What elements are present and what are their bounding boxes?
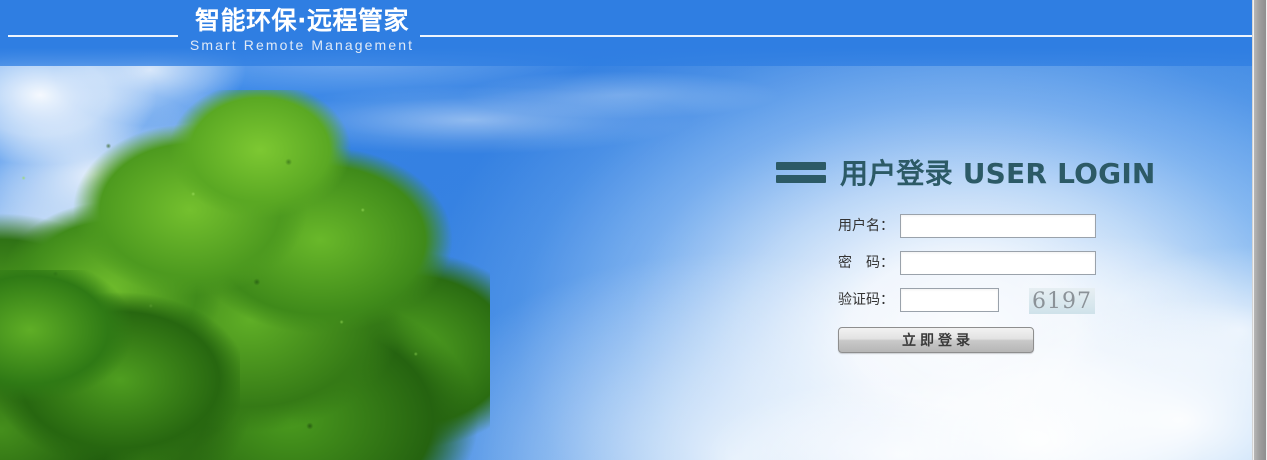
tree-canopy <box>0 90 490 460</box>
password-input[interactable] <box>900 251 1096 275</box>
header-rule-left-icon <box>8 35 178 37</box>
two-bar-icon <box>776 162 826 183</box>
login-form: 用户名： 密 码： 验证码： 6197 <box>838 214 1176 314</box>
captcha-input[interactable] <box>900 288 999 312</box>
tree-illustration-secondary <box>0 270 240 460</box>
username-label: 用户名： <box>838 214 900 235</box>
password-label: 密 码： <box>838 251 900 272</box>
scrollbar-thumb[interactable] <box>1254 0 1266 460</box>
tree-illustration <box>0 90 490 460</box>
brand-title-en: Smart Remote Management <box>186 36 418 54</box>
login-panel: 用户登录 USER LOGIN 用户名： 密 码： 验证码： 6197 立即登录 <box>776 152 1176 353</box>
login-page: 智能环保·远程管家 Smart Remote Management 用户登录 U… <box>0 0 1267 460</box>
header-rule-right-icon <box>420 35 1253 37</box>
form-row-username: 用户名： <box>838 214 1176 238</box>
username-input[interactable] <box>900 214 1096 238</box>
captcha-label: 验证码： <box>838 288 900 309</box>
vertical-scrollbar[interactable] <box>1252 0 1267 460</box>
captcha-image[interactable]: 6197 <box>1029 288 1095 314</box>
tree-foliage-texture <box>0 90 490 460</box>
login-heading-text: 用户登录 USER LOGIN <box>840 152 1156 192</box>
login-button-row: 立即登录 <box>838 327 1176 353</box>
login-heading: 用户登录 USER LOGIN <box>776 152 1176 192</box>
brand-title-cn: 智能环保·远程管家 <box>186 6 418 35</box>
form-row-password: 密 码： <box>838 251 1176 275</box>
brand-block: 智能环保·远程管家 Smart Remote Management <box>186 6 418 54</box>
form-row-captcha: 验证码： 6197 <box>838 288 1176 314</box>
login-submit-button[interactable]: 立即登录 <box>838 327 1034 353</box>
page-header: 智能环保·远程管家 Smart Remote Management <box>0 0 1253 70</box>
